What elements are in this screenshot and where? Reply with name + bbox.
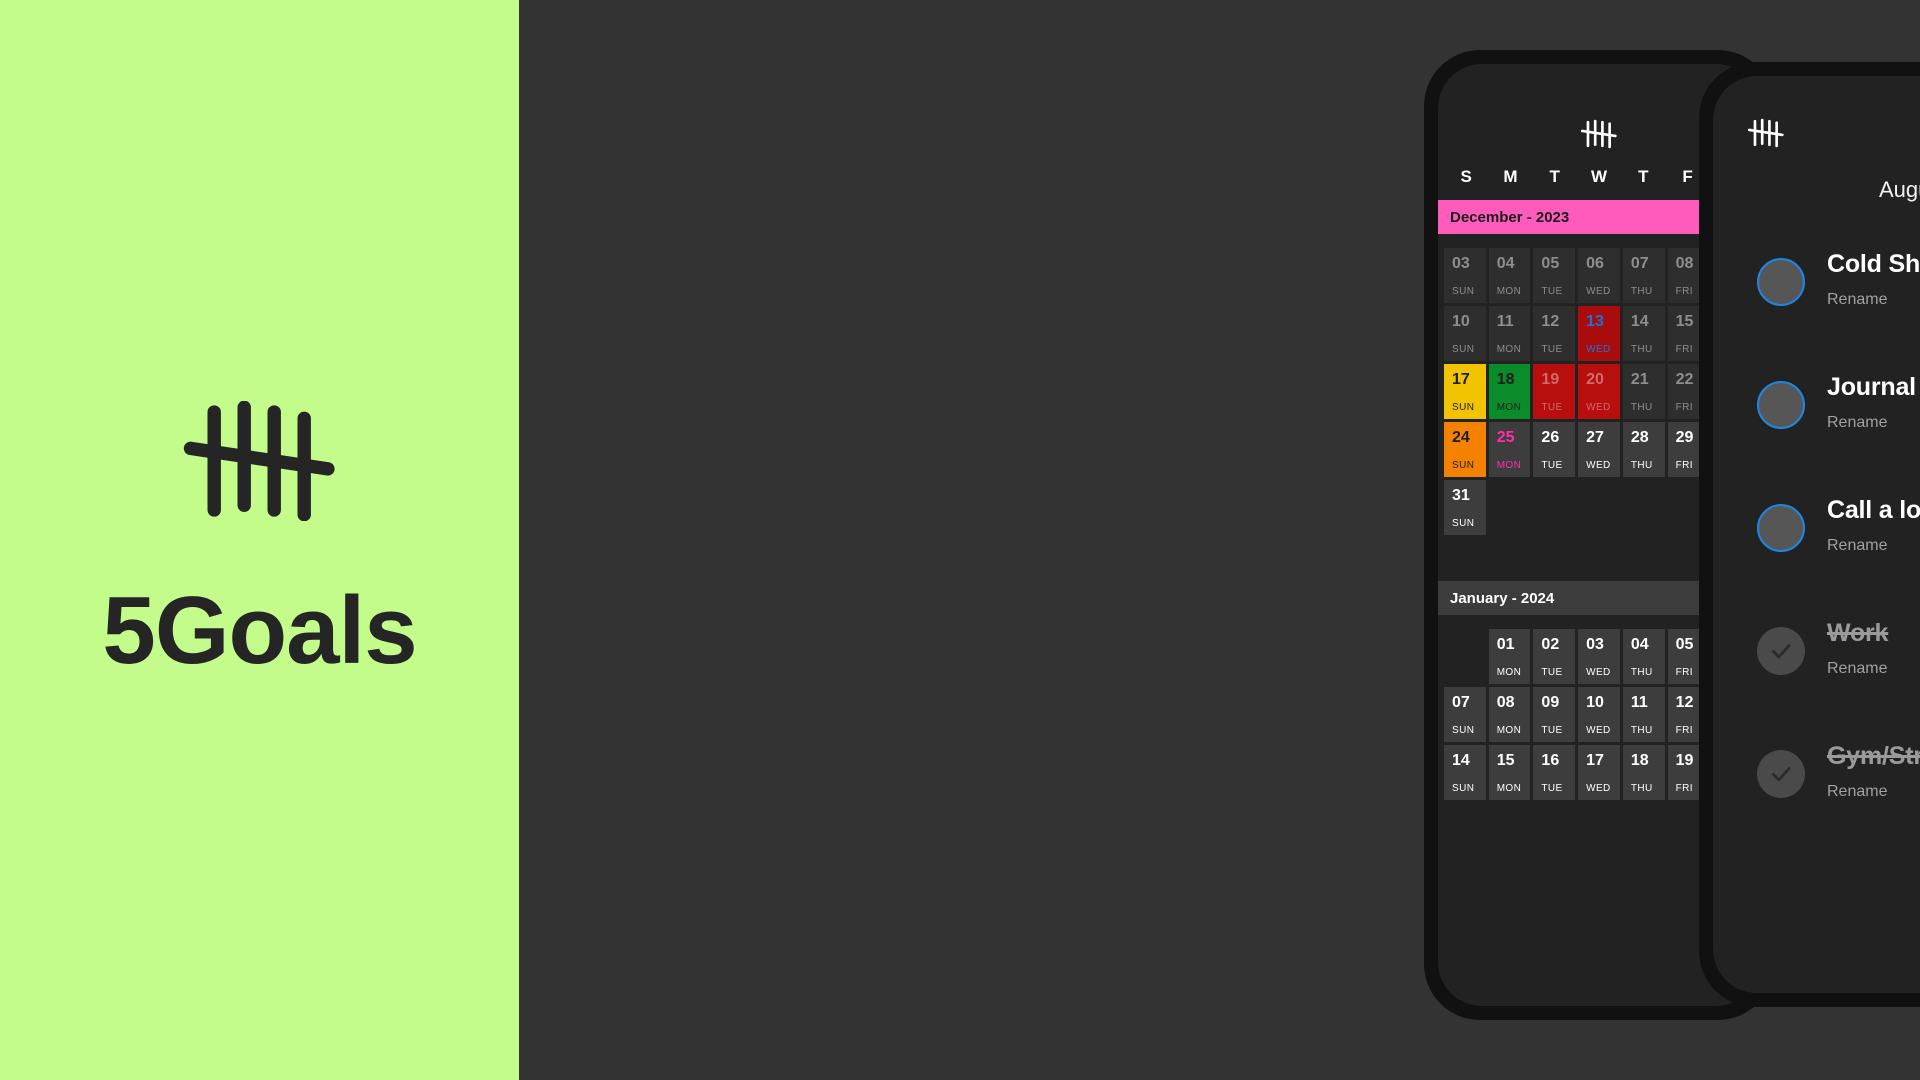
task-row: Journal or MeditateRename bbox=[1713, 368, 1920, 491]
day-number: 10 bbox=[1452, 313, 1478, 331]
day-number: 03 bbox=[1452, 255, 1478, 273]
task-rename-button[interactable]: Rename bbox=[1827, 537, 1920, 555]
task-title[interactable]: Cold Shower bbox=[1827, 249, 1920, 279]
day-cell[interactable]: 11THU bbox=[1623, 687, 1665, 742]
brand-name: 5Goals bbox=[102, 583, 416, 679]
day-number: 17 bbox=[1452, 371, 1478, 389]
day-number: 11 bbox=[1631, 694, 1657, 712]
day-cell[interactable]: 27WED bbox=[1578, 422, 1620, 477]
task-rename-button[interactable]: Rename bbox=[1827, 660, 1888, 678]
day-weekday: SUN bbox=[1452, 725, 1478, 736]
task-title[interactable]: Gym/Stretch/Walk bbox=[1827, 741, 1920, 771]
day-weekday: MON bbox=[1497, 460, 1523, 471]
task-checkbox-unchecked[interactable] bbox=[1757, 504, 1805, 552]
day-weekday: THU bbox=[1631, 402, 1657, 413]
day-weekday: WED bbox=[1586, 783, 1612, 794]
day-weekday: THU bbox=[1631, 667, 1657, 678]
tasks-header bbox=[1713, 76, 1920, 150]
day-cell[interactable]: 26TUE bbox=[1533, 422, 1575, 477]
day-weekday: TUE bbox=[1541, 725, 1567, 736]
day-weekday: FRI bbox=[1676, 725, 1702, 736]
day-number: 29 bbox=[1676, 429, 1702, 447]
day-number: 04 bbox=[1631, 636, 1657, 654]
day-number: 18 bbox=[1497, 371, 1523, 389]
day-cell[interactable]: 10WED bbox=[1578, 687, 1620, 742]
weekday-label: T bbox=[1621, 167, 1665, 187]
day-cell[interactable]: 15MON bbox=[1489, 745, 1531, 800]
day-weekday: MON bbox=[1497, 402, 1523, 413]
tally-marks-icon bbox=[1580, 117, 1618, 151]
task-rename-button[interactable]: Rename bbox=[1827, 783, 1920, 801]
day-cell[interactable]: 04MON bbox=[1489, 248, 1531, 303]
weekday-label: M bbox=[1488, 167, 1532, 187]
day-weekday: MON bbox=[1497, 667, 1523, 678]
day-number: 14 bbox=[1631, 313, 1657, 331]
day-number: 16 bbox=[1541, 752, 1567, 770]
day-weekday: SUN bbox=[1452, 344, 1478, 355]
day-number: 13 bbox=[1586, 313, 1612, 331]
day-weekday: SUN bbox=[1452, 518, 1478, 529]
check-icon bbox=[1768, 638, 1794, 664]
day-cell[interactable]: 01MON bbox=[1489, 629, 1531, 684]
tally-marks-icon bbox=[1747, 116, 1785, 150]
day-number: 05 bbox=[1541, 255, 1567, 273]
task-text-group: Cold ShowerRename bbox=[1827, 245, 1920, 309]
day-weekday: WED bbox=[1586, 286, 1612, 297]
task-title[interactable]: Call a loved one bbox=[1827, 495, 1920, 525]
day-cell[interactable]: 16TUE bbox=[1533, 745, 1575, 800]
task-list: Cold ShowerRenameJournal or MeditateRena… bbox=[1713, 203, 1920, 860]
day-weekday: THU bbox=[1631, 344, 1657, 355]
day-cell[interactable]: 03WED bbox=[1578, 629, 1620, 684]
task-text-group: Gym/Stretch/WalkRename bbox=[1827, 737, 1920, 801]
day-weekday: TUE bbox=[1541, 667, 1567, 678]
tasks-phone-frame: August 1st, 2024 Cold ShowerRenameJourna… bbox=[1699, 62, 1920, 1007]
check-icon bbox=[1768, 761, 1794, 787]
task-text-group: WorkRename bbox=[1827, 614, 1888, 678]
day-weekday: THU bbox=[1631, 460, 1657, 471]
task-text-group: Journal or MeditateRename bbox=[1827, 368, 1920, 432]
day-weekday: WED bbox=[1586, 344, 1612, 355]
day-number: 07 bbox=[1631, 255, 1657, 273]
day-weekday: FRI bbox=[1676, 460, 1702, 471]
day-weekday: FRI bbox=[1676, 286, 1702, 297]
day-number: 22 bbox=[1676, 371, 1702, 389]
day-number: 08 bbox=[1497, 694, 1523, 712]
day-weekday: FRI bbox=[1676, 783, 1702, 794]
day-weekday: WED bbox=[1586, 402, 1612, 413]
day-number: 12 bbox=[1541, 313, 1567, 331]
day-weekday: MON bbox=[1497, 344, 1523, 355]
day-number: 15 bbox=[1497, 752, 1523, 770]
day-cell[interactable]: 24SUN bbox=[1444, 422, 1486, 477]
day-cell[interactable]: 06WED bbox=[1578, 248, 1620, 303]
day-weekday: TUE bbox=[1541, 286, 1567, 297]
day-number: 11 bbox=[1497, 313, 1523, 331]
task-checkbox-checked[interactable] bbox=[1757, 627, 1805, 675]
day-cell[interactable]: 04THU bbox=[1623, 629, 1665, 684]
day-cell[interactable]: 31SUN bbox=[1444, 480, 1486, 535]
day-number: 21 bbox=[1631, 371, 1657, 389]
day-cell[interactable]: 08MON bbox=[1489, 687, 1531, 742]
day-cell[interactable]: 13WED bbox=[1578, 306, 1620, 361]
day-weekday: MON bbox=[1497, 783, 1523, 794]
day-cell[interactable]: 10SUN bbox=[1444, 306, 1486, 361]
day-number: 19 bbox=[1541, 371, 1567, 389]
day-cell[interactable]: 07THU bbox=[1623, 248, 1665, 303]
day-number: 10 bbox=[1586, 694, 1612, 712]
day-weekday: SUN bbox=[1452, 783, 1478, 794]
day-number: 12 bbox=[1676, 694, 1702, 712]
task-rename-button[interactable]: Rename bbox=[1827, 291, 1920, 309]
day-cell[interactable]: 20WED bbox=[1578, 364, 1620, 419]
day-cell[interactable]: 19TUE bbox=[1533, 364, 1575, 419]
day-cell[interactable]: 17SUN bbox=[1444, 364, 1486, 419]
day-weekday: WED bbox=[1586, 460, 1612, 471]
day-weekday: FRI bbox=[1676, 402, 1702, 413]
task-title[interactable]: Journal or Meditate bbox=[1827, 372, 1920, 402]
day-weekday: FRI bbox=[1676, 344, 1702, 355]
tasks-phone-screen: August 1st, 2024 Cold ShowerRenameJourna… bbox=[1713, 76, 1920, 993]
day-weekday: THU bbox=[1631, 286, 1657, 297]
day-cell-empty bbox=[1533, 480, 1575, 535]
day-number: 09 bbox=[1541, 694, 1567, 712]
day-weekday: THU bbox=[1631, 725, 1657, 736]
task-row: Call a loved oneRename bbox=[1713, 491, 1920, 614]
tally-marks-icon bbox=[180, 401, 340, 521]
task-row: Cold ShowerRename bbox=[1713, 245, 1920, 368]
day-cell[interactable]: 18THU bbox=[1623, 745, 1665, 800]
day-cell[interactable]: 14THU bbox=[1623, 306, 1665, 361]
day-weekday: MON bbox=[1497, 286, 1523, 297]
day-cell[interactable]: 25MON bbox=[1489, 422, 1531, 477]
day-number: 07 bbox=[1452, 694, 1478, 712]
day-number: 14 bbox=[1452, 752, 1478, 770]
day-number: 25 bbox=[1497, 429, 1523, 447]
app-root: 5Goals SMTWTFS bbox=[0, 0, 1920, 1080]
task-checkbox-checked[interactable] bbox=[1757, 750, 1805, 798]
day-weekday: SUN bbox=[1452, 460, 1478, 471]
day-weekday: SUN bbox=[1452, 402, 1478, 413]
day-cell[interactable]: 18MON bbox=[1489, 364, 1531, 419]
day-number: 24 bbox=[1452, 429, 1478, 447]
day-number: 28 bbox=[1631, 429, 1657, 447]
day-weekday: TUE bbox=[1541, 460, 1567, 471]
day-cell[interactable]: 14SUN bbox=[1444, 745, 1486, 800]
day-cell-empty bbox=[1578, 480, 1620, 535]
day-number: 01 bbox=[1497, 636, 1523, 654]
day-number: 08 bbox=[1676, 255, 1702, 273]
task-checkbox-unchecked[interactable] bbox=[1757, 381, 1805, 429]
day-number: 31 bbox=[1452, 487, 1478, 505]
task-checkbox-unchecked[interactable] bbox=[1757, 258, 1805, 306]
day-cell[interactable]: 09TUE bbox=[1533, 687, 1575, 742]
weekday-label: W bbox=[1577, 167, 1621, 187]
task-title[interactable]: Work bbox=[1827, 618, 1888, 648]
weekday-label: T bbox=[1533, 167, 1577, 187]
day-cell[interactable]: 07SUN bbox=[1444, 687, 1486, 742]
day-cell-empty bbox=[1444, 629, 1486, 684]
day-cell-empty bbox=[1623, 480, 1665, 535]
task-rename-button[interactable]: Rename bbox=[1827, 414, 1920, 432]
day-cell[interactable]: 17WED bbox=[1578, 745, 1620, 800]
day-weekday: MON bbox=[1497, 725, 1523, 736]
day-cell[interactable]: 02TUE bbox=[1533, 629, 1575, 684]
day-weekday: TUE bbox=[1541, 402, 1567, 413]
brand-panel: 5Goals bbox=[0, 0, 519, 1080]
weekday-label: S bbox=[1444, 167, 1488, 187]
day-number: 06 bbox=[1586, 255, 1612, 273]
day-cell[interactable]: 11MON bbox=[1489, 306, 1531, 361]
day-cell[interactable]: 28THU bbox=[1623, 422, 1665, 477]
task-text-group: Call a loved oneRename bbox=[1827, 491, 1920, 555]
day-number: 26 bbox=[1541, 429, 1567, 447]
day-cell[interactable]: 12TUE bbox=[1533, 306, 1575, 361]
task-row: WorkRename bbox=[1713, 614, 1920, 737]
day-weekday: WED bbox=[1586, 667, 1612, 678]
day-weekday: SUN bbox=[1452, 286, 1478, 297]
day-cell[interactable]: 05TUE bbox=[1533, 248, 1575, 303]
day-weekday: FRI bbox=[1676, 667, 1702, 678]
day-number: 17 bbox=[1586, 752, 1612, 770]
day-weekday: TUE bbox=[1541, 344, 1567, 355]
day-number: 19 bbox=[1676, 752, 1702, 770]
day-number: 02 bbox=[1541, 636, 1567, 654]
day-weekday: TUE bbox=[1541, 783, 1567, 794]
day-number: 27 bbox=[1586, 429, 1612, 447]
day-cell[interactable]: 21THU bbox=[1623, 364, 1665, 419]
task-row: Gym/Stretch/WalkRename bbox=[1713, 737, 1920, 860]
day-number: 18 bbox=[1631, 752, 1657, 770]
day-weekday: WED bbox=[1586, 725, 1612, 736]
day-cell-empty bbox=[1489, 480, 1531, 535]
day-cell[interactable]: 03SUN bbox=[1444, 248, 1486, 303]
day-number: 04 bbox=[1497, 255, 1523, 273]
day-number: 20 bbox=[1586, 371, 1612, 389]
day-number: 05 bbox=[1676, 636, 1702, 654]
day-number: 15 bbox=[1676, 313, 1702, 331]
current-date-label: August 1st, 2024 bbox=[1713, 177, 1920, 203]
presentation-stage: SMTWTFS December - 202303SUN04MON05TUE06… bbox=[519, 0, 1920, 1080]
day-weekday: THU bbox=[1631, 783, 1657, 794]
day-number: 03 bbox=[1586, 636, 1612, 654]
